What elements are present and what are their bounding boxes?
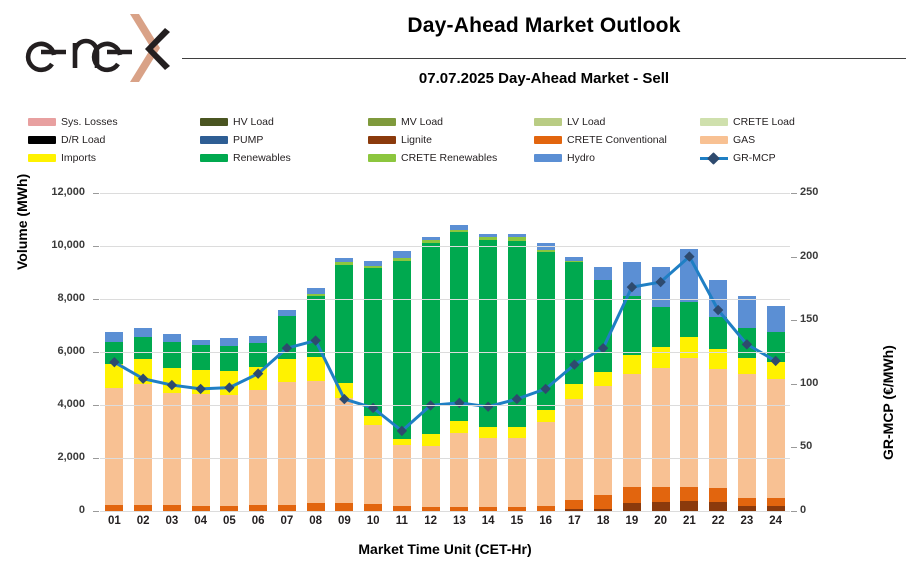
legend-swatch-icon [534, 136, 562, 144]
legend-swatch-icon [28, 118, 56, 126]
gridline [100, 405, 790, 406]
bar-segment-imports [680, 337, 698, 357]
bar-segment-renewables [220, 346, 238, 371]
bar-segment-gas [134, 384, 152, 505]
gridline [100, 511, 790, 512]
legend-item-label: Renewables [233, 153, 291, 164]
bar-segment-hydro [163, 334, 181, 342]
legend-swatch-icon [200, 154, 228, 162]
legend-item-renewables[interactable]: Renewables [200, 149, 368, 167]
legend-item-gas[interactable]: GAS [700, 131, 828, 149]
legend-item-mv-load[interactable]: MV Load [368, 113, 534, 131]
bar-segment-crete-conventional [709, 488, 727, 502]
bar-segment-renewables [738, 328, 756, 358]
bar-segment-hydro [680, 249, 698, 303]
legend-item-label: PUMP [233, 135, 263, 146]
bar-segment-imports [767, 362, 785, 379]
bar-segment-crete-renewables [307, 294, 325, 296]
legend-item-label: GR-MCP [733, 153, 776, 164]
legend-item-label: LV Load [567, 117, 605, 128]
y-axis-left-tick [93, 458, 99, 459]
bar-segment-gas [220, 395, 238, 506]
y-axis-right-tick [791, 320, 797, 321]
x-axis-title: Market Time Unit (CET-Hr) [100, 541, 790, 557]
bar-segment-gas [709, 369, 727, 487]
bar-segment-gas [335, 398, 353, 503]
legend-item-imports[interactable]: Imports [28, 149, 200, 167]
gridline [100, 193, 790, 194]
y-axis-right-tick [791, 384, 797, 385]
bar-segment-gas [652, 368, 670, 487]
bar-segment-crete-renewables [479, 237, 497, 240]
bar-segment-renewables [709, 317, 727, 348]
bar-segment-gas [393, 445, 411, 507]
legend-swatch-icon [368, 154, 396, 162]
legend-swatch-icon [368, 118, 396, 126]
bar-segment-crete-renewables [422, 240, 440, 243]
bar-segment-lignite [652, 502, 670, 511]
bar-segment-renewables [163, 342, 181, 368]
y-axis-right-tick [791, 511, 797, 512]
bar-segment-hydro [307, 288, 325, 295]
gridline [100, 246, 790, 247]
bar-segment-gas [680, 358, 698, 487]
bar-segment-gas [163, 393, 181, 506]
bar-segment-hydro [652, 267, 670, 307]
y-axis-right-tick-label: 50 [800, 441, 860, 452]
legend-item-hydro[interactable]: Hydro [534, 149, 700, 167]
page-subtitle: 07.07.2025 Day-Ahead Market - Sell [182, 70, 906, 87]
bar-segment-renewables [450, 232, 468, 421]
bar-segment-hydro [393, 251, 411, 258]
y-axis-right-tick-label: 100 [800, 378, 860, 389]
bar-segment-imports [134, 359, 152, 384]
page-header: Day-Ahead Market Outlook 07.07.2025 Day-… [0, 0, 918, 106]
y-axis-left-tick [93, 246, 99, 247]
y-axis-left-tick-label: 12,000 [5, 187, 85, 198]
bar-segment-hydro [738, 296, 756, 328]
bar-segment-imports [508, 427, 526, 438]
bar-segment-gas [594, 386, 612, 495]
bar-segment-renewables [565, 262, 583, 384]
bar-segment-crete-conventional [307, 503, 325, 511]
bar-segment-gas [767, 379, 785, 498]
bar-segment-gas [565, 399, 583, 500]
bar-segment-lignite [709, 502, 727, 511]
legend-item-label: CRETE Renewables [401, 153, 497, 164]
bar-segment-gas [192, 394, 210, 505]
bar-segment-crete-renewables [335, 262, 353, 265]
bar-segment-renewables [307, 296, 325, 357]
bar-segment-crete-conventional [364, 504, 382, 511]
bar-segment-crete-renewables [537, 250, 555, 252]
bar-segment-imports [335, 383, 353, 398]
bar-segment-lignite [680, 501, 698, 511]
legend-item-label: GAS [733, 135, 755, 146]
enex-logo [18, 8, 178, 88]
legend-item-label: Hydro [567, 153, 595, 164]
bar-segment-hydro [422, 237, 440, 240]
bar-segment-hydro [623, 262, 641, 296]
legend-item-pump[interactable]: PUMP [200, 131, 368, 149]
bar-segment-gas [738, 374, 756, 497]
chart-plot-area: 02,0004,0006,0008,00010,00012,0000501001… [100, 193, 790, 511]
chart-legend: Sys. LossesHV LoadMV LoadLV LoadCRETE Lo… [28, 113, 828, 167]
bar-segment-lignite [623, 503, 641, 511]
bar-segment-crete-conventional [767, 498, 785, 506]
gridline [100, 299, 790, 300]
legend-swatch-icon [534, 118, 562, 126]
bar-segment-imports [307, 357, 325, 382]
bar-segment-imports [364, 416, 382, 425]
bar-segment-hydro [105, 332, 123, 342]
y-axis-right-tick [791, 257, 797, 258]
bar-segment-renewables [134, 337, 152, 359]
bar-segment-imports [192, 370, 210, 394]
legend-item-label: Imports [61, 153, 96, 164]
legend-line-marker-icon [700, 153, 728, 163]
legend-item-gr-mcp[interactable]: GR-MCP [700, 149, 828, 167]
bar-segment-renewables [364, 268, 382, 416]
bar-segment-imports [652, 347, 670, 368]
bar-segment-hydro [134, 328, 152, 338]
bar-segment-imports [220, 371, 238, 395]
y-axis-left-tick-label: 0 [5, 505, 85, 516]
legend-item-lignite[interactable]: Lignite [368, 131, 534, 149]
bar-segment-renewables [479, 240, 497, 427]
bar-segment-hydro [335, 258, 353, 263]
y-axis-left-tick [93, 352, 99, 353]
bar-segment-renewables [192, 345, 210, 370]
y-axis-left-tick-label: 8,000 [5, 293, 85, 304]
bar-segment-crete-renewables [450, 230, 468, 233]
bar-segment-imports [479, 427, 497, 438]
bar-segment-gas [508, 438, 526, 507]
legend-item-label: CRETE Conventional [567, 135, 667, 146]
y-axis-left-tick-label: 4,000 [5, 399, 85, 410]
bar-segment-hydro [479, 234, 497, 237]
bar-segment-hydro [594, 267, 612, 279]
bar-segment-renewables [537, 252, 555, 409]
page-title: Day-Ahead Market Outlook [182, 14, 906, 38]
bar-segment-hydro [220, 338, 238, 346]
bar-segment-gas [364, 425, 382, 505]
legend-swatch-icon [28, 136, 56, 144]
bar-segment-gas [278, 382, 296, 504]
legend-swatch-icon [700, 136, 728, 144]
bar-segment-renewables [594, 280, 612, 372]
bar-segment-renewables [623, 296, 641, 355]
legend-swatch-icon [368, 136, 396, 144]
bar-segment-renewables [680, 302, 698, 337]
bar-segment-imports [565, 384, 583, 398]
x-axis-tick-label: 24 [756, 515, 796, 527]
bar-segment-gas [249, 390, 267, 505]
y-axis-left-tick [93, 511, 99, 512]
bar-segment-crete-renewables [393, 258, 411, 262]
y-axis-right-tick-label: 0 [800, 505, 860, 516]
bar-segment-crete-conventional [652, 487, 670, 502]
legend-item-crete-renewables[interactable]: CRETE Renewables [368, 149, 534, 167]
y-axis-right-tick [791, 447, 797, 448]
y-axis-right-tick-label: 150 [800, 314, 860, 325]
bar-segment-renewables [105, 342, 123, 364]
bar-segment-crete-renewables [364, 266, 382, 269]
legend-item-label: HV Load [233, 117, 274, 128]
bar-segment-imports [249, 367, 267, 390]
legend-swatch-icon [200, 136, 228, 144]
legend-item-label: Lignite [401, 135, 432, 146]
bar-segment-hydro [192, 340, 210, 345]
y-axis-right-tick-label: 250 [800, 187, 860, 198]
y-axis-right-tick-label: 200 [800, 251, 860, 262]
bar-segment-hydro [364, 261, 382, 266]
legend-item-crete-conventional[interactable]: CRETE Conventional [534, 131, 700, 149]
legend-item-d-r-load[interactable]: D/R Load [28, 131, 200, 149]
legend-item-crete-load[interactable]: CRETE Load [700, 113, 828, 131]
y-axis-left-tick [93, 405, 99, 406]
bar-segment-crete-conventional [680, 487, 698, 501]
legend-swatch-icon [700, 118, 728, 126]
legend-item-label: CRETE Load [733, 117, 795, 128]
legend-item-label: Sys. Losses [61, 117, 118, 128]
legend-swatch-icon [200, 118, 228, 126]
y-axis-left-tick-label: 2,000 [5, 452, 85, 463]
y-axis-left-tick [93, 193, 99, 194]
title-divider [182, 58, 906, 59]
bar-segment-crete-conventional [335, 503, 353, 511]
y-axis-right-title: GR-MCP (€/MWh) [880, 345, 896, 460]
bar-segment-crete-renewables [508, 237, 526, 241]
bar-segment-renewables [393, 261, 411, 439]
y-axis-left-tick [93, 299, 99, 300]
bar-segment-imports [163, 368, 181, 393]
bar-segment-renewables [335, 265, 353, 383]
gridline [100, 352, 790, 353]
legend-swatch-icon [534, 154, 562, 162]
gridline [100, 458, 790, 459]
title-block: Day-Ahead Market Outlook 07.07.2025 Day-… [182, 6, 906, 102]
bar-segment-imports [738, 358, 756, 375]
bar-segment-imports [594, 372, 612, 386]
bar-segment-gas [479, 438, 497, 507]
bar-segment-imports [105, 364, 123, 388]
bar-segment-hydro [565, 257, 583, 261]
bar-segment-crete-conventional [594, 495, 612, 509]
legend-item-hv-load[interactable]: HV Load [200, 113, 368, 131]
legend-item-label: D/R Load [61, 135, 105, 146]
bar-segment-gas [623, 374, 641, 487]
legend-item-lv-load[interactable]: LV Load [534, 113, 700, 131]
y-axis-left-tick-label: 6,000 [5, 346, 85, 357]
bar-segment-renewables [508, 241, 526, 427]
bar-segment-gas [450, 433, 468, 507]
bar-segment-imports [450, 421, 468, 432]
legend-swatch-icon [28, 154, 56, 162]
y-axis-left-tick-label: 10,000 [5, 240, 85, 251]
legend-item-sys-losses[interactable]: Sys. Losses [28, 113, 200, 131]
bar-segment-gas [537, 422, 555, 506]
bar-segment-hydro [249, 336, 267, 343]
bar-segment-crete-conventional [623, 487, 641, 503]
y-axis-right-tick [791, 193, 797, 194]
bar-segment-hydro [450, 225, 468, 229]
bar-segment-renewables [652, 307, 670, 348]
bar-segment-imports [393, 439, 411, 444]
bar-segment-renewables [767, 332, 785, 362]
bar-segment-hydro [278, 310, 296, 316]
bar-segment-imports [278, 359, 296, 382]
bar-segment-gas [307, 381, 325, 503]
bar-segment-gas [422, 446, 440, 507]
bar-segment-crete-conventional [738, 498, 756, 506]
bar-segment-imports [537, 410, 555, 423]
bar-segment-imports [623, 355, 641, 374]
bar-segment-imports [422, 434, 440, 445]
bar-segment-renewables [249, 343, 267, 367]
bar-segment-crete-conventional [565, 500, 583, 510]
bar-segment-hydro [508, 234, 526, 237]
bar-segment-crete-renewables [565, 261, 583, 262]
legend-item-label: MV Load [401, 117, 443, 128]
bar-segment-hydro [767, 306, 785, 332]
